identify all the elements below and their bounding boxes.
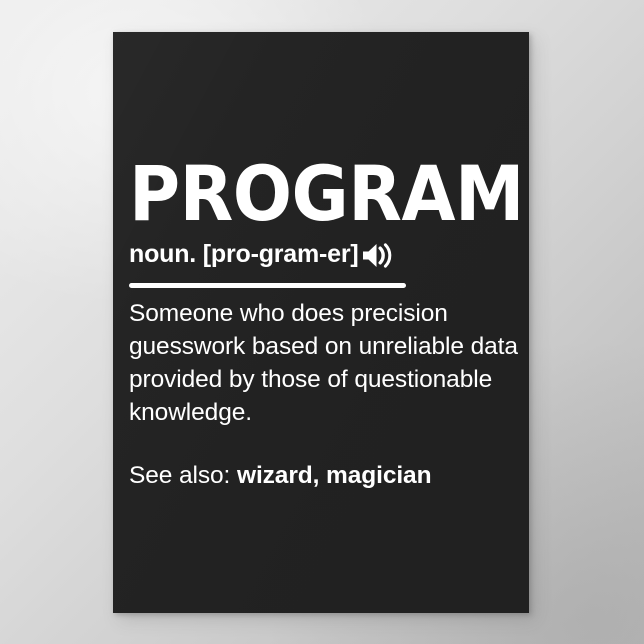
poster-scene: PROGRAMMER noun. [pro-gram-er] Someone w… [0,0,644,644]
see-also-label: See also: [129,462,230,489]
poster-title: PROGRAMMER [129,162,521,226]
definition-text: Someone who does precision guesswork bas… [129,297,519,429]
pronunciation-text: noun. [pro-gram-er] [129,242,359,267]
pronunciation-row: noun. [pro-gram-er] [129,240,513,270]
poster: PROGRAMMER noun. [pro-gram-er] Someone w… [113,32,529,613]
speaker-icon [362,242,392,269]
see-also-line: See also: wizard, magician [129,461,513,491]
see-also-terms: wizard, magician [237,462,431,489]
poster-content: PROGRAMMER noun. [pro-gram-er] Someone w… [129,162,513,491]
divider-rule [129,283,406,288]
